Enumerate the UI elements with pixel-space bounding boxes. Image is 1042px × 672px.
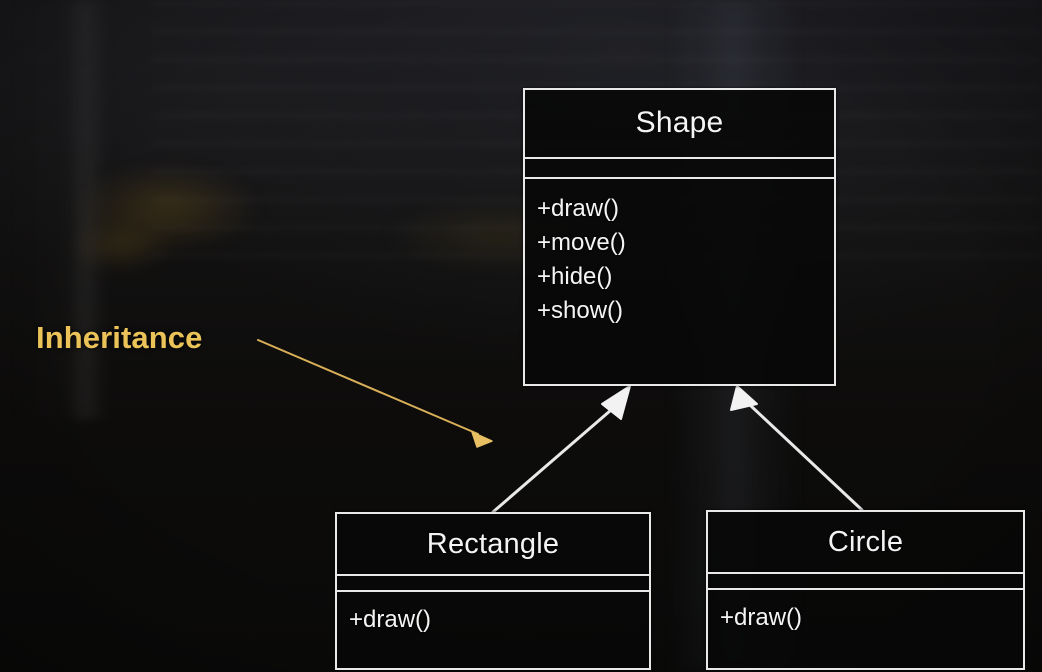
operation-item: +draw() bbox=[349, 604, 649, 636]
generalization-rectangle-to-shape bbox=[493, 386, 630, 512]
generalization-line-rectangle bbox=[493, 404, 618, 512]
class-attributes-shape bbox=[525, 159, 834, 177]
class-attributes-rectangle bbox=[337, 576, 649, 590]
class-attributes-circle bbox=[708, 574, 1023, 588]
generalization-circle-to-shape bbox=[731, 386, 862, 510]
class-box-shape[interactable]: Shape +draw() +move() +hide() +show() bbox=[523, 88, 836, 386]
class-operations-circle: +draw() bbox=[708, 590, 1023, 634]
class-name-rectangle: Rectangle bbox=[337, 514, 649, 574]
operation-item: +draw() bbox=[720, 602, 1023, 634]
annotation-pointer bbox=[258, 340, 492, 447]
class-operations-rectangle: +draw() bbox=[337, 592, 649, 636]
diagram-canvas: Shape +draw() +move() +hide() +show() Re… bbox=[0, 0, 1042, 672]
operation-item: +hide() bbox=[537, 260, 834, 294]
operation-item: +show() bbox=[537, 294, 834, 328]
class-name-circle: Circle bbox=[708, 512, 1023, 572]
class-name-shape: Shape bbox=[525, 90, 834, 157]
operation-item: +move() bbox=[537, 226, 834, 260]
annotation-label: Inheritance bbox=[36, 320, 202, 356]
class-operations-shape: +draw() +move() +hide() +show() bbox=[525, 179, 834, 328]
class-box-circle[interactable]: Circle +draw() bbox=[706, 510, 1025, 670]
generalization-line-circle bbox=[751, 406, 862, 510]
annotation-pointer-arrowhead bbox=[472, 432, 492, 447]
operation-item: +draw() bbox=[537, 192, 834, 226]
class-box-rectangle[interactable]: Rectangle +draw() bbox=[335, 512, 651, 670]
annotation-pointer-line bbox=[258, 340, 478, 434]
